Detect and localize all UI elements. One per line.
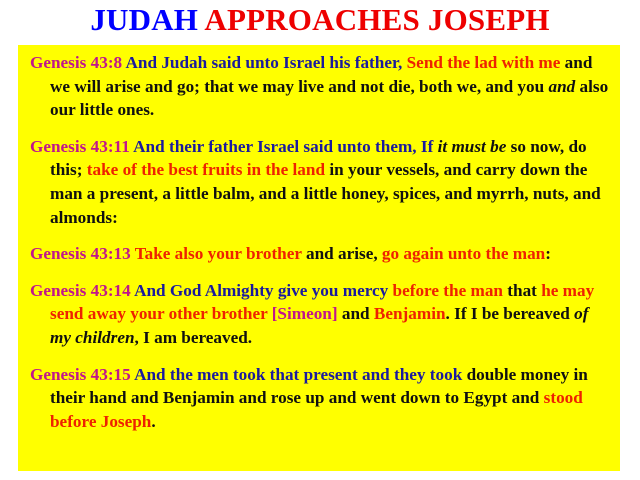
verse-paragraph: Genesis 43:8 And Judah said unto Israel … [30, 51, 610, 122]
verse-text-run: that [503, 281, 541, 300]
verse-hanging-wrap: Genesis 43:13 [30, 244, 131, 263]
verse-hanging-wrap: Genesis 43:8 [30, 53, 122, 72]
verse-text-run: and arise, [302, 244, 382, 263]
verse-hanging-wrap: Genesis 43:14 [30, 281, 131, 300]
verse-text-run: before the man [393, 281, 503, 300]
verse-paragraph: Genesis 43:11 And their father Israel sa… [30, 135, 610, 229]
verse-paragraph: Genesis 43:14 And God Almighty give you … [30, 279, 610, 350]
verse-text-run: Send the lad with me [407, 53, 561, 72]
verse-text-run: , I am bereaved. [135, 328, 253, 347]
title-word-judah: JUDAH [90, 2, 198, 37]
verse-text-run: Take also your brother [131, 244, 302, 263]
verse-hanging-wrap: Genesis 43:15 [30, 365, 131, 384]
verse-text-run: go again unto the man [382, 244, 545, 263]
verse-paragraph: Genesis 43:13 Take also your brother and… [30, 242, 610, 266]
verse-reference: Genesis 43:11 [30, 137, 130, 156]
verse-list: Genesis 43:8 And Judah said unto Israel … [30, 51, 610, 433]
verse-text-run: And the men took that present and they t… [131, 365, 463, 384]
verse-text-run: Benjamin [374, 304, 446, 323]
verse-text-run: And Judah said unto Israel his father, [122, 53, 406, 72]
verse-reference: Genesis 43:15 [30, 365, 131, 384]
verse-text-run: . If I be bereaved [446, 304, 575, 323]
slide-canvas: JUDAH APPROACHES JOSEPH Genesis 43:8 And… [0, 0, 640, 480]
verse-hanging-wrap: Genesis 43:11 [30, 137, 130, 156]
slide-title: JUDAH APPROACHES JOSEPH [0, 2, 640, 38]
verse-text-run: And God Almighty give you mercy [131, 281, 393, 300]
verse-text-run: [Simeon] [272, 304, 338, 323]
verse-text-run: take of the best fruits in the land [87, 160, 325, 179]
verse-reference: Genesis 43:13 [30, 244, 131, 263]
verse-text-run: it must be [438, 137, 507, 156]
verse-text-run: : [545, 244, 551, 263]
title-phrase-approaches-joseph: APPROACHES JOSEPH [204, 2, 549, 37]
scripture-body-box: Genesis 43:8 And Judah said unto Israel … [18, 45, 620, 471]
verse-text-run: . [151, 412, 155, 431]
verse-text-run: and [338, 304, 374, 323]
verse-text-run: and [548, 77, 575, 96]
verse-paragraph: Genesis 43:15 And the men took that pres… [30, 363, 610, 434]
verse-reference: Genesis 43:14 [30, 281, 131, 300]
verse-text-run: And their father Israel said unto them, … [130, 137, 438, 156]
verse-reference: Genesis 43:8 [30, 53, 122, 72]
